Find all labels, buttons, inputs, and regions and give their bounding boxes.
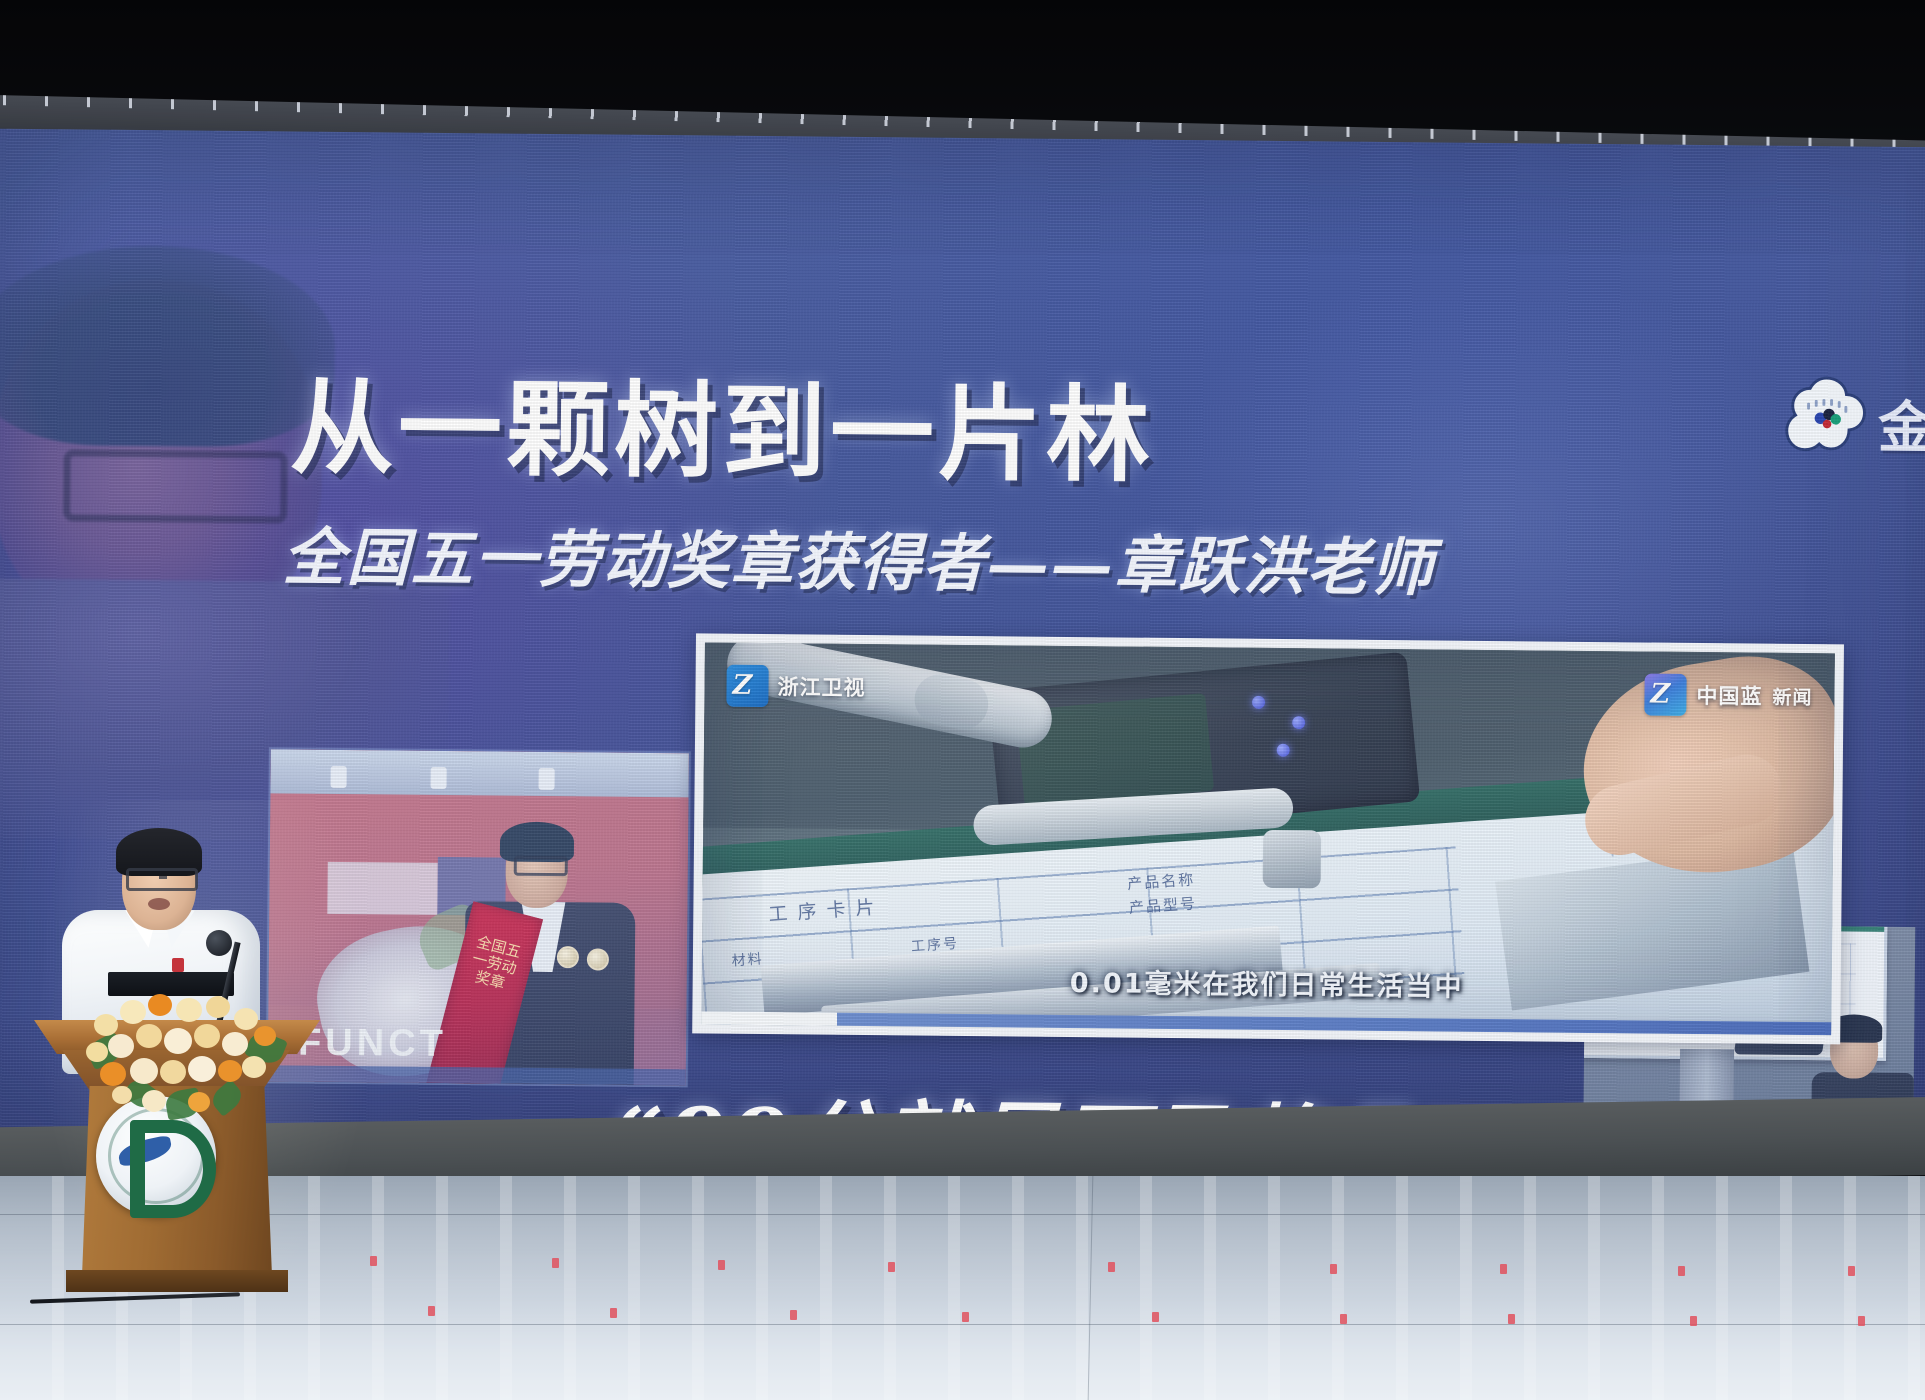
microphone-head	[206, 930, 232, 956]
tv-still-image: 工 序 卡 片 产品名称 产品型号 材料 工序号	[701, 642, 1835, 1035]
zhejiang-tv-bug: Z 浙江卫视	[726, 665, 865, 708]
logo-wordmark: 金	[1878, 383, 1925, 465]
cloud-emblem-logo	[1778, 374, 1875, 465]
stage-floor	[0, 1176, 1925, 1400]
china-blue-sublabel: 新闻	[1772, 682, 1812, 709]
zhejiang-tv-label: 浙江卫视	[777, 671, 865, 702]
china-blue-news-logo: Z	[1644, 674, 1686, 716]
china-blue-label: 中国蓝	[1696, 680, 1762, 711]
stage-scene: 从一颗树到一片林 全国五一劳动奖章获得者——章跃洪老师 金	[0, 0, 1925, 1400]
speaker-mouth	[148, 898, 170, 910]
tv-news-still-frame: 工 序 卡 片 产品名称 产品型号 材料 工序号	[692, 633, 1844, 1044]
slide-title: 从一颗树到一片林	[289, 373, 1510, 493]
led-screen: 从一颗树到一片林 全国五一劳动奖章获得者——章跃洪老师 金	[0, 129, 1925, 1148]
floor-reflections	[0, 1176, 1925, 1400]
podium-base	[66, 1270, 288, 1292]
slide-subtitle: 全国五一劳动奖章获得者——章跃洪老师	[282, 523, 1623, 604]
zhejiang-tv-logo: Z	[726, 665, 768, 707]
speaker-eyeglasses	[126, 868, 198, 891]
china-blue-news-bug: Z 中国蓝 新闻	[1644, 674, 1812, 718]
speaker-lapel-badge	[172, 958, 184, 972]
floral-arrangement	[82, 986, 282, 1126]
award-ceremony-photo: 全国五一劳动奖章 FUNCT	[268, 749, 689, 1085]
